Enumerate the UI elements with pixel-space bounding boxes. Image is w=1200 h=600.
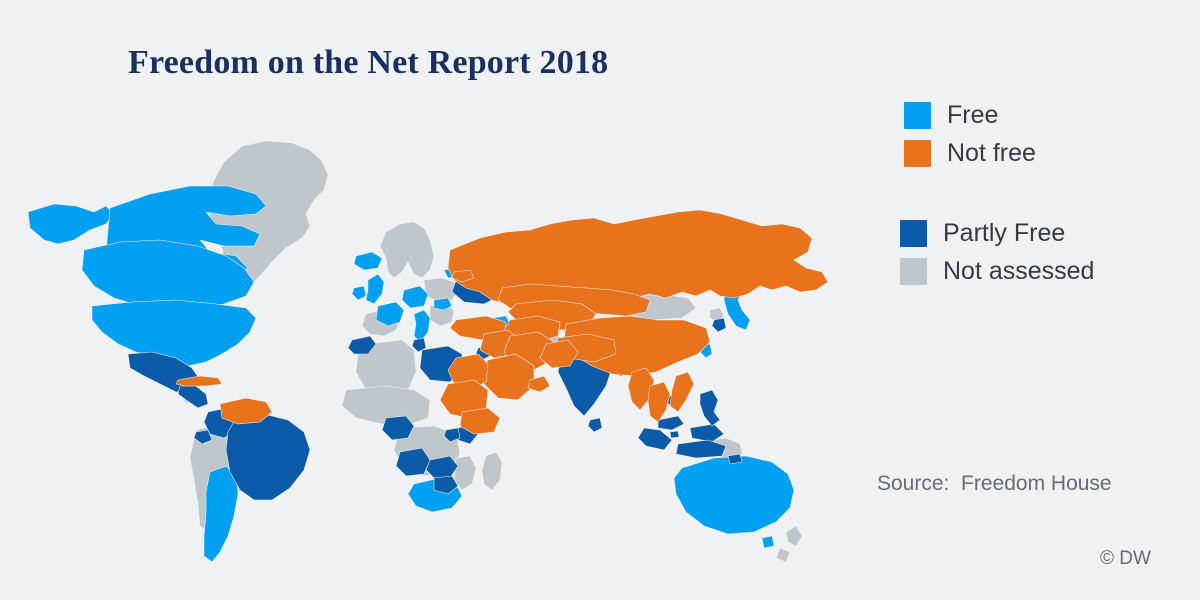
legend-swatch-partly-free xyxy=(900,220,927,247)
country-italy xyxy=(414,310,430,342)
world-map-svg xyxy=(10,128,870,578)
legend-item-partly-free[interactable]: Partly Free xyxy=(900,214,1190,252)
country-united-kingdom xyxy=(366,274,384,304)
legend-item-not-free[interactable]: Not free xyxy=(900,134,1190,172)
infographic-root: Freedom on the Net Report 2018 xyxy=(0,0,1200,600)
country-madagascar xyxy=(482,452,502,490)
legend-swatch-free xyxy=(904,102,931,129)
legend-label-partly-free: Partly Free xyxy=(943,221,1065,246)
country-angola xyxy=(396,448,430,476)
source-attribution: Source: Freedom House xyxy=(877,472,1112,496)
country-south-korea xyxy=(712,318,726,332)
map-legend: Free Not free Partly Free Not assessed xyxy=(900,96,1190,290)
country-brazil xyxy=(226,414,310,500)
country-iceland xyxy=(354,252,382,270)
country-philippines xyxy=(700,390,720,426)
copyright-notice: © DW xyxy=(1100,548,1151,570)
legend-label-free: Free xyxy=(947,103,998,128)
country-australia xyxy=(674,456,794,534)
country-saudi-arabia xyxy=(480,354,534,400)
country-france xyxy=(376,302,404,326)
page-title: Freedom on the Net Report 2018 xyxy=(128,44,608,82)
country-scandinavia xyxy=(380,222,434,278)
country-alaska xyxy=(28,204,114,244)
country-new-zealand xyxy=(776,526,802,562)
legend-label-not-free: Not free xyxy=(947,141,1036,166)
world-choropleth-map xyxy=(10,128,870,578)
country-sri-lanka xyxy=(588,418,602,432)
country-singapore xyxy=(670,431,679,438)
legend-swatch-not-free xyxy=(904,140,931,167)
region-central-america xyxy=(178,386,208,408)
legend-item-not-assessed[interactable]: Not assessed xyxy=(900,252,1190,290)
country-united-states xyxy=(92,300,256,366)
country-germany xyxy=(402,286,428,308)
country-vietnam xyxy=(670,372,694,412)
country-argentina xyxy=(204,466,238,562)
legend-item-free[interactable]: Free xyxy=(900,96,1190,134)
country-east-timor xyxy=(728,454,742,464)
legend-label-not-assessed: Not assessed xyxy=(943,259,1094,284)
legend-swatch-not-assessed xyxy=(900,258,927,285)
country-thailand xyxy=(648,382,670,422)
region-tasmania xyxy=(762,536,774,548)
country-ireland xyxy=(352,286,366,300)
